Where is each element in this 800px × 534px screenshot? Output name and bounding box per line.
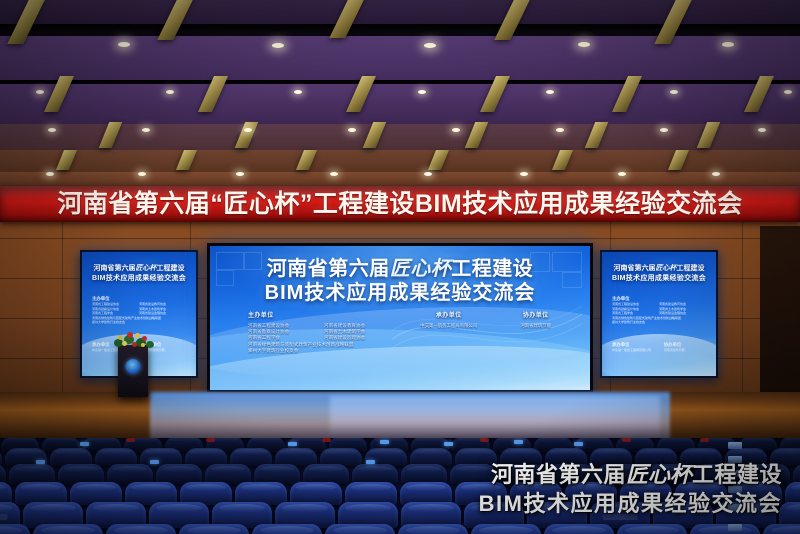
flower-petal: [142, 336, 147, 341]
speaker-podium: [118, 345, 148, 397]
ceiling-downlight: [236, 172, 244, 176]
side-left-title-brand: 匠心杯: [136, 265, 157, 272]
side-led-panel-right: 河南省第六届匠心杯工程建设 BIM技术应用成果经验交流会 主办单位 河南省工程建…: [600, 250, 718, 378]
list-item: 郑州大学建筑行业校友会: [612, 320, 706, 325]
screen-title-line1: 河南省第六届匠心杯工程建设: [210, 257, 590, 281]
co-organizer-column: 协办单位 河南省建筑节能: [497, 310, 574, 354]
seat-marker-light: [150, 460, 159, 464]
flower-petal: [141, 343, 145, 347]
ceiling-downlight: [418, 90, 426, 94]
seat-marker-light: [288, 442, 297, 446]
flower-petal: [122, 341, 127, 346]
side-right-title-post: 工程建设: [677, 265, 705, 272]
panel-wave-decoration: [600, 334, 718, 378]
overlay-caption-line1: 河南省第六届匠心杯工程建设: [479, 461, 782, 489]
side-right-title-brand: 匠心杯: [656, 265, 677, 272]
ceiling-downlight: [424, 43, 436, 48]
side-panel-right-title-line2: BIM技术应用成果经验交流会: [602, 274, 716, 283]
host-heading: 承办单位: [400, 310, 497, 319]
flower-petal: [132, 342, 137, 347]
ceiling-downlight: [452, 128, 460, 132]
overlay-caption: 河南省第六届匠心杯工程建设 BIM技术应用成果经验交流会: [479, 461, 782, 518]
organizers-heading: 主办单位: [226, 310, 400, 319]
ceiling: [0, 0, 800, 190]
ceiling-downlight: [138, 172, 146, 176]
ceiling-downlight: [758, 128, 766, 132]
host-column: 承办单位 中交第一航务工程局有限公司: [400, 310, 497, 354]
stage-floor-highlight: [330, 396, 660, 436]
side-panel-left-title-line2: BIM技术应用成果经验交流会: [82, 274, 196, 283]
seat-back-red-marker: [126, 438, 135, 442]
ceiling-downlight: [578, 42, 590, 47]
list-item: 郑州大学建筑行业校友会: [248, 348, 400, 354]
ceiling-downlight: [294, 90, 302, 94]
ceiling-downlight: [424, 172, 432, 176]
organizers-list: 河南省工程建设协会 河南省建设教育协会 河南省勘察设计协会 河南省土木建筑学会 …: [226, 323, 400, 354]
seat-back-red-marker: [322, 438, 331, 442]
side-panel-right-title-line1: 河南省第六届匠心杯工程建设: [602, 264, 716, 273]
flower-petal: [146, 341, 154, 348]
overhead-red-banner: 河南省第六届“匠心杯”工程建设BIM技术应用成果经验交流会: [0, 186, 800, 222]
ceiling-downlight: [118, 42, 130, 47]
main-led-screen: 河南省第六届匠心杯工程建设 BIM技术应用成果经验交流会 主办单位 河南省工程建…: [207, 243, 593, 393]
side-right-organizers-list: 河南省工程建设协会 河南省建设教育协会 河南省勘察设计协会 河南省土木建筑学会 …: [612, 302, 706, 325]
ceiling-downlight: [660, 128, 668, 132]
side-left-title-pre: 河南省第六届: [94, 265, 136, 272]
co-organizer-item: 河南省建筑节能: [497, 323, 574, 329]
co-organizer-heading: 协办单位: [497, 310, 574, 319]
flower-petal: [135, 333, 140, 338]
host-item: 中交第一航务工程局有限公司: [400, 323, 497, 329]
screen-title: 河南省第六届匠心杯工程建设 BIM技术应用成果经验交流会: [210, 257, 590, 306]
ceiling-downlight: [670, 90, 678, 94]
ceiling-downlight: [46, 172, 54, 176]
ceiling-downlight: [784, 90, 792, 94]
podium-emblem-icon: [126, 359, 141, 374]
seat-marker-light: [366, 460, 375, 464]
overlay-brand: 匠心杯: [626, 462, 692, 487]
seat-back-red-marker: [700, 438, 709, 442]
ceiling-downlight: [330, 172, 338, 176]
ceiling-downlight: [348, 128, 356, 132]
seat-row: [0, 524, 800, 534]
overlay-caption-line2: BIM技术应用成果经验交流会: [479, 489, 782, 518]
flower-petal: [118, 335, 123, 340]
organizers-column: 主办单位 河南省工程建设协会 河南省建设教育协会 河南省勘察设计协会 河南省土木…: [226, 310, 400, 354]
seat-back-red-marker: [206, 438, 215, 442]
side-left-organizers-list: 河南省工程建设协会 河南省建设教育协会 河南省勘察设计协会 河南省土木建筑学会 …: [92, 302, 186, 325]
ceiling-downlight: [722, 42, 734, 47]
screen-title-post: 工程建设: [451, 258, 533, 280]
ceiling-downlight: [556, 128, 564, 132]
ceiling-beam-3: [0, 84, 800, 124]
ceiling-downlight: [546, 90, 554, 94]
seat-back-red-marker: [622, 438, 631, 442]
conference-hall-photo: 河南省第六届“匠心杯”工程建设BIM技术应用成果经验交流会 河南省第六届匠心杯工…: [0, 0, 800, 534]
seat-back-red-marker: [480, 438, 489, 442]
ceiling-downlight: [520, 172, 528, 176]
ceiling-downlight: [36, 90, 44, 94]
screen-title-pre: 河南省第六届: [267, 258, 390, 280]
ceiling-downlight: [618, 172, 626, 176]
screen-title-brand: 匠心杯: [390, 258, 452, 280]
seat-marker-light: [80, 442, 89, 446]
ceiling-downlight: [712, 172, 720, 176]
flower-petal: [127, 332, 133, 338]
seat-marker-light: [444, 442, 453, 446]
seat-marker-light: [574, 442, 583, 446]
seat-marker-light: [36, 460, 45, 464]
seat-marker-light: [380, 440, 389, 444]
seat-marker-light: [514, 440, 523, 444]
side-left-title-post: 工程建设: [157, 265, 185, 272]
side-right-title-pre: 河南省第六届: [614, 265, 656, 272]
screen-organizations: 主办单位 河南省工程建设协会 河南省建设教育协会 河南省勘察设计协会 河南省土木…: [210, 310, 590, 354]
flower-arrangement: [108, 329, 158, 351]
list-item: 郑州大学建筑行业校友会: [92, 320, 186, 325]
banner-text: 河南省第六届“匠心杯”工程建设BIM技术应用成果经验交流会: [0, 187, 800, 221]
ceiling-downlight: [166, 90, 174, 94]
screen-title-line2: BIM技术应用成果经验交流会: [210, 281, 590, 306]
ceiling-downlight: [48, 128, 56, 132]
ceiling-downlight: [244, 128, 252, 132]
side-panel-left-title-line1: 河南省第六届匠心杯工程建设: [82, 264, 196, 273]
overlay-post: 工程建设: [692, 462, 782, 487]
ceiling-downlight: [272, 43, 284, 48]
ceiling-downlight: [142, 128, 150, 132]
overlay-pre: 河南省第六届: [491, 462, 626, 487]
